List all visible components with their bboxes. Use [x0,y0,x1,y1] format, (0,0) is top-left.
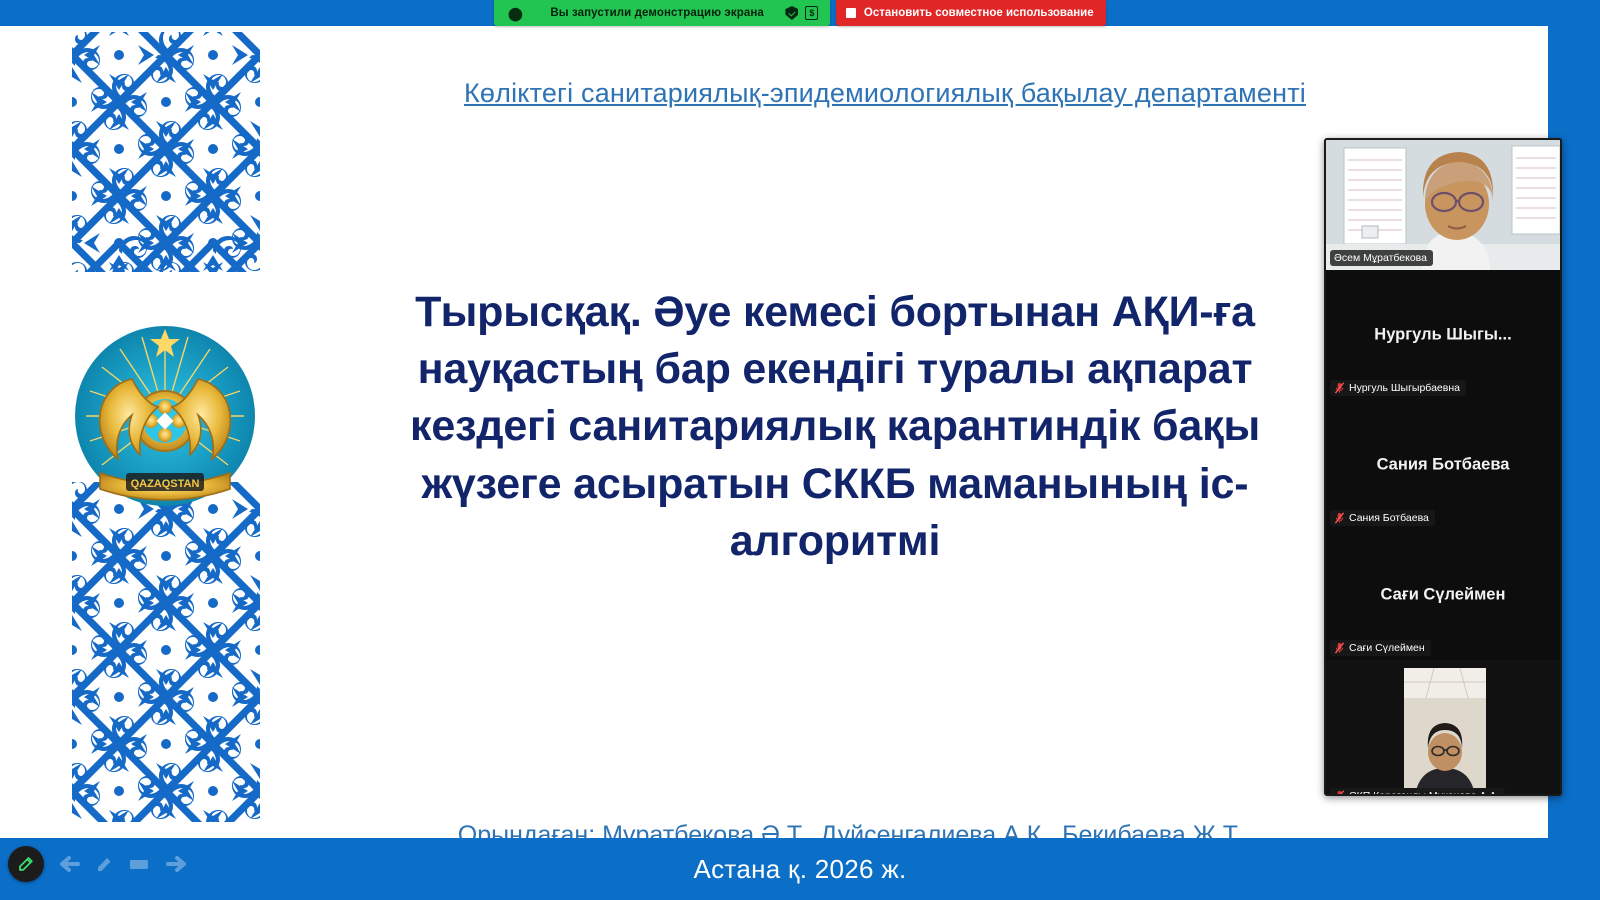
mic-off-icon [1334,382,1345,394]
mic-off-icon [1334,642,1345,654]
title-line-3: кездегі санитариялық карантиндік бақы [270,398,1400,455]
participant-name: Сания Ботбаева [1349,512,1429,524]
participant-name-badge: Әсем Мұратбекова [1330,250,1433,266]
participants-video-panel[interactable]: Әсем Мұратбекова Нургуль Шыгы... Нургуль… [1324,138,1562,796]
redo-arrow-icon[interactable] [164,853,190,875]
eraser-icon[interactable] [126,853,152,875]
mic-off-icon [1334,512,1345,524]
participant-name-badge: СКП Қарағанды Муканова А.А. [1330,788,1505,796]
title-line-5: алгоритмі [270,513,1400,570]
lightning-icon: ⬤ [504,7,526,20]
participant-name: СКП Қарағанды Муканова А.А. [1349,790,1499,796]
pencil-icon[interactable] [94,853,114,875]
title-line-4: жүзеге асыратын СККБ маманының іс- [270,456,1400,513]
shared-slide: QAZAQSTAN Көліктегі санитариялық-эпидеми… [0,26,1548,838]
pen-icon[interactable] [8,846,44,882]
shield-check-icon[interactable] [782,0,802,26]
annotation-toolbar [8,840,190,888]
slide-bottom-bar: Астана қ. 2026 ж. [0,838,1600,900]
share-status-label: Вы запустили демонстрацию экрана [526,7,782,19]
participant-display-name: Сания Ботбаева [1326,456,1560,475]
screen-share-status-pill: ⬤ Вы запустили демонстрацию экрана $ [494,0,830,26]
participant-video-feed [1326,660,1560,796]
participant-display-name: Нургуль Шыгы... [1326,326,1560,345]
slide-authors-line: Орындаған: Мұратбекова Ә.Т., Дуйсенгалие… [300,821,1400,838]
participant-tile-asem[interactable]: Әсем Мұратбекова [1326,140,1560,270]
participant-tile-skp-karagandy[interactable]: СКП Қарағанды Муканова А.А. [1326,660,1560,796]
participant-name: Сағи Сүлеймен [1349,642,1425,654]
meeting-control-bar: ⬤ Вы запустили демонстрацию экрана $ Ост… [0,0,1600,26]
participant-tile-saniya[interactable]: Сания Ботбаева Сания Ботбаева [1326,400,1560,530]
slide-footer-text: Астана қ. 2026 ж. [693,854,906,885]
slide-department-heading: Көліктегі санитариялық-эпидемиологиялық … [300,78,1470,109]
stop-sharing-button[interactable]: Остановить совместное использование [836,0,1106,26]
mic-off-icon [1334,790,1345,796]
stop-sharing-label: Остановить совместное использование [864,7,1094,19]
participant-tile-nurgul[interactable]: Нургуль Шыгы... Нургуль Шыгырбаевна [1326,270,1560,400]
participant-name-badge: Сания Ботбаева [1330,510,1435,526]
slide-main-title: Тырысқақ. Әуе кемесі бортынан АҚИ-ға нау… [270,284,1400,570]
title-line-1: Тырысқақ. Әуе кемесі бортынан АҚИ-ға [270,284,1400,341]
undo-arrow-icon[interactable] [56,853,82,875]
participant-tile-sagi[interactable]: Сағи Сүлеймен Сағи Сүлеймен [1326,530,1560,660]
participant-name: Әсем Мұратбекова [1334,252,1427,264]
emblem-caption: QAZAQSTAN [131,478,200,490]
dollar-badge-icon[interactable]: $ [802,0,822,26]
participant-name-badge: Нургуль Шыгырбаевна [1330,380,1466,396]
participant-name-badge: Сағи Сүлеймен [1330,640,1431,656]
participant-name: Нургуль Шыгырбаевна [1349,382,1460,394]
kazakhstan-state-emblem: QAZAQSTAN [70,321,260,516]
title-line-2: науқастың бар екендігі туралы ақпарат [270,341,1400,398]
screen-share-frame: ⬤ Вы запустили демонстрацию экрана $ Ост… [0,0,1600,900]
stop-square-icon [846,8,856,18]
participant-display-name: Сағи Сүлеймен [1326,586,1560,605]
